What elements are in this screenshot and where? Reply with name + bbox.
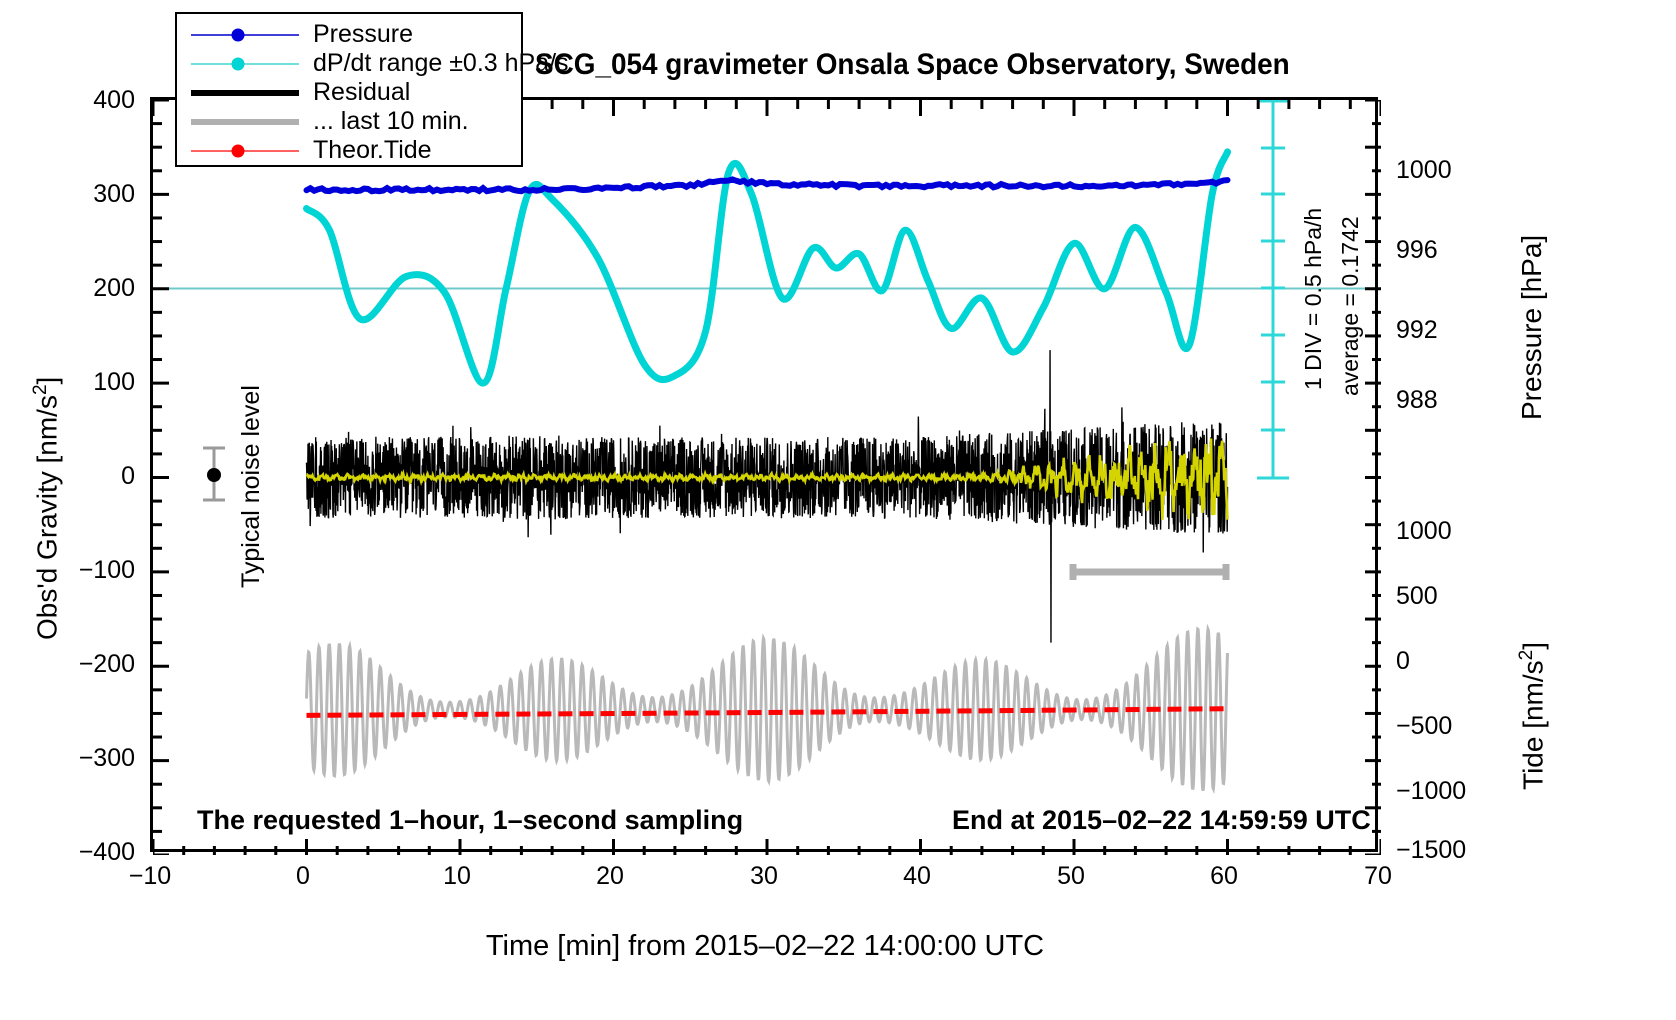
left-axis-title-bracket: ]: [31, 377, 62, 385]
legend-label-dpdt: dP/dt range ±0.3 hPa/s: [299, 49, 569, 78]
end-time-note: End at 2015–02–22 14:59:59 UTC: [952, 805, 1371, 836]
x-tick-20: 20: [550, 862, 670, 891]
pressure-tick-992: 992: [1396, 318, 1516, 343]
left-axis-ticks: [153, 100, 169, 855]
right-tide-axis-title-bracket: ]: [1517, 642, 1548, 650]
typical-noise-level-label: Typical noise level: [237, 385, 266, 588]
x-tick-50: 50: [1011, 862, 1131, 891]
tide-tick-500: 500: [1396, 584, 1516, 609]
pressure-tick-1000: 1000: [1396, 158, 1516, 183]
x-tick-40: 40: [857, 862, 977, 891]
x-tick-m10: −10: [90, 862, 210, 891]
tide-tick-m500: −500: [1396, 714, 1516, 739]
x-tick-0: 0: [243, 862, 363, 891]
tide-tick-1000: 1000: [1396, 519, 1516, 544]
legend-item-dpdt[interactable]: dP/dt range ±0.3 hPa/s: [177, 49, 521, 78]
legend-label-residual: Residual: [299, 78, 410, 107]
left-tick-m300: −300: [25, 746, 135, 771]
plot-svg: [153, 100, 1381, 855]
pressure-tick-988: 988: [1396, 388, 1516, 413]
legend-swatch-theor-tide: [191, 139, 299, 163]
tide-tick-m1000: −1000: [1396, 779, 1516, 804]
left-tick-400: 400: [25, 88, 135, 113]
right-tide-axis-title-exponent: 2: [1516, 650, 1537, 661]
legend-label-last10: ... last 10 min.: [299, 107, 469, 136]
dpdt-scalebar: [1257, 101, 1289, 478]
x-tick-30: 30: [704, 862, 824, 891]
x-tick-60: 60: [1164, 862, 1284, 891]
legend-swatch-residual: [191, 81, 299, 105]
bottom-axis-ticks: [153, 839, 1381, 855]
x-tick-70: 70: [1318, 862, 1438, 891]
left-axis-title-text: Obs'd Gravity [nm/s: [31, 395, 62, 640]
right-tide-axis-title-text: Tide [nm/s: [1517, 660, 1548, 790]
tide-tick-m1500: −1500: [1396, 838, 1516, 863]
legend-item-theor-tide[interactable]: Theor.Tide: [177, 136, 521, 165]
right-pressure-axis-title: Pressure [hPa]: [1516, 235, 1548, 420]
pressure-tick-996: 996: [1396, 238, 1516, 263]
chart-canvas: SCG_054 gravimeter Onsala Space Observat…: [0, 0, 1676, 1020]
left-axis-title: Obs'd Gravity [nm/s2]: [30, 377, 63, 640]
right-axis-ticks: [1365, 100, 1381, 855]
legend-item-last10[interactable]: ... last 10 min.: [177, 107, 521, 136]
right-tide-axis-title: Tide [nm/s2]: [1516, 642, 1549, 790]
legend-label-theor-tide: Theor.Tide: [299, 136, 432, 165]
legend-item-pressure[interactable]: Pressure: [177, 20, 521, 49]
plot-area: [150, 97, 1378, 852]
typical-noise-marker: [203, 448, 225, 500]
legend-swatch-dpdt: [191, 52, 299, 76]
x-axis-title: Time [min] from 2015–02–22 14:00:00 UTC: [0, 930, 1530, 963]
left-tick-300: 300: [25, 182, 135, 207]
legend-item-residual[interactable]: Residual: [177, 78, 521, 107]
legend-label-pressure: Pressure: [299, 20, 413, 49]
legend-swatch-last10: [191, 110, 299, 134]
legend-swatch-pressure: [191, 23, 299, 47]
scalebar-average-label: average = 0.1742: [1337, 216, 1364, 396]
residual-noise-path: [307, 350, 1228, 643]
sampling-note: The requested 1–hour, 1–second sampling: [197, 805, 743, 836]
left-tick-m200: −200: [25, 652, 135, 677]
pressure-curve-path: [307, 179, 1228, 191]
last-10-min-marker: [1073, 564, 1226, 580]
tide-tick-0: 0: [1396, 649, 1516, 674]
legend: Pressure dP/dt range ±0.3 hPa/s Residual…: [175, 12, 523, 167]
chart-title: SCG_054 gravimeter Onsala Space Observat…: [535, 48, 1290, 82]
left-axis-title-exponent: 2: [30, 384, 51, 395]
x-tick-10: 10: [397, 862, 517, 891]
scalebar-div-label: 1 DIV = 0.5 hPa/h: [1300, 208, 1327, 390]
left-tick-200: 200: [25, 276, 135, 301]
